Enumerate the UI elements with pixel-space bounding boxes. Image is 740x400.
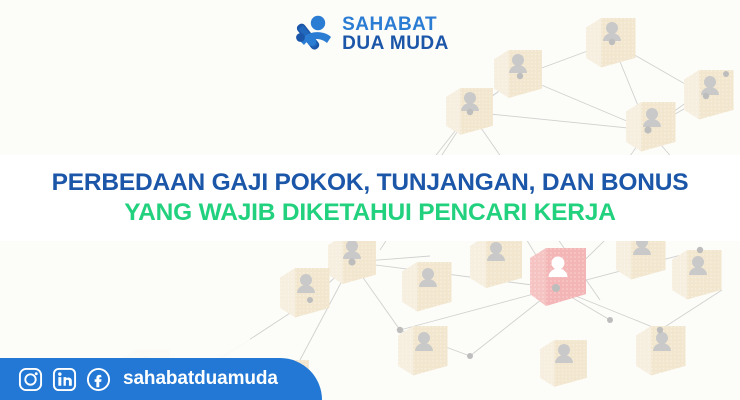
- instagram-icon[interactable]: [18, 367, 43, 392]
- linkedin-icon[interactable]: [52, 367, 77, 392]
- title-band: PERBEDAAN GAJI POKOK, TUNJANGAN, DAN BON…: [0, 155, 740, 241]
- sahabat-dua-muda-people-mark: [291, 12, 335, 56]
- brand-line-2: DUA MUDA: [342, 34, 449, 53]
- headline-primary: PERBEDAAN GAJI POKOK, TUNJANGAN, DAN BON…: [52, 168, 689, 198]
- headline-secondary: YANG WAJIB DIKETAHUI PENCARI KERJA: [124, 198, 615, 228]
- social-footer-bar: sahabatduamuda: [0, 358, 322, 400]
- brand-logo: SAHABAT DUA MUDA: [0, 12, 740, 56]
- facebook-icon[interactable]: [86, 367, 111, 392]
- brand-line-1: SAHABAT: [342, 15, 449, 34]
- banner-graphic: SAHABAT DUA MUDA PERBEDAAN GAJI POKOK, T…: [0, 0, 740, 400]
- social-handle: sahabatduamuda: [123, 368, 278, 390]
- brand-wordmark: SAHABAT DUA MUDA: [342, 15, 449, 53]
